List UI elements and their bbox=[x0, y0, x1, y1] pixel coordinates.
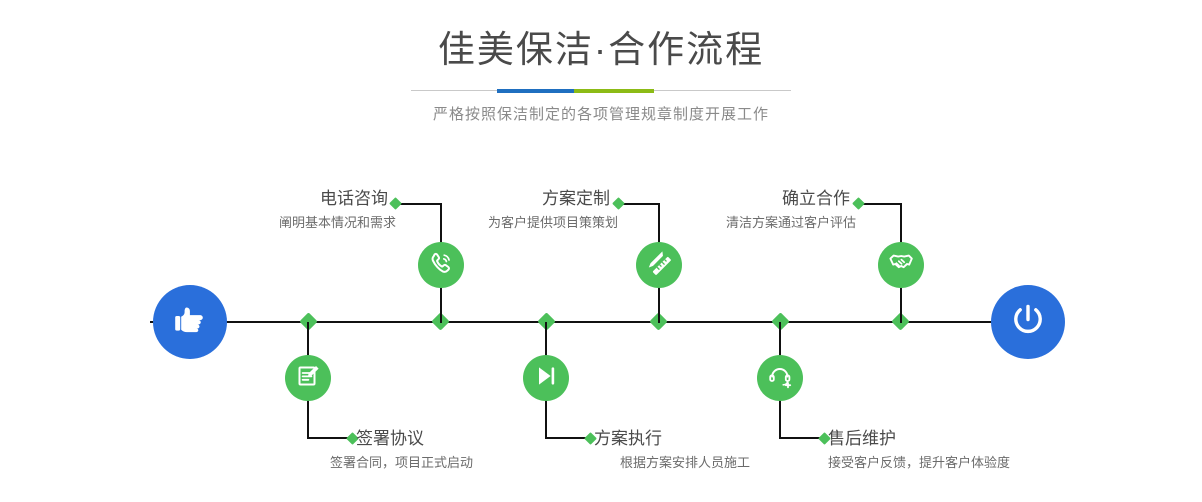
step-icon-circle-2 bbox=[285, 355, 331, 401]
label-marker-step-5 bbox=[852, 197, 865, 210]
timeline-start-node bbox=[153, 285, 227, 359]
play-skip-icon bbox=[532, 362, 560, 395]
pencil-ruler-icon bbox=[645, 249, 673, 282]
cooperation-flow-infographic: 佳美保洁·合作流程 严格按照保洁制定的各项管理规章制度开展工作 bbox=[0, 0, 1202, 502]
step-desc-6: 接受客户反馈，提升客户体验度 bbox=[828, 454, 1010, 472]
step-title-5: 确立合作 bbox=[604, 188, 850, 210]
step-desc-5: 清洁方案通过客户评估 bbox=[584, 214, 856, 232]
step-icon-circle-4 bbox=[523, 355, 569, 401]
step-desc-4: 根据方案安排人员施工 bbox=[620, 454, 750, 472]
step-desc-2: 签署合同，项目正式启动 bbox=[330, 454, 473, 472]
phone-call-icon bbox=[427, 249, 455, 282]
step-title-1: 电话咨询 bbox=[140, 188, 388, 210]
timeline-end-node bbox=[991, 285, 1065, 359]
step-desc-3: 为客户提供项目策策划 bbox=[340, 214, 618, 232]
step-icon-circle-6 bbox=[757, 355, 803, 401]
step-icon-circle-3 bbox=[636, 242, 682, 288]
customer-service-add-icon bbox=[766, 362, 794, 395]
timeline: 电话咨询 阐明基本情况和需求 签署协议 签署合同，项目正式启动 bbox=[0, 0, 1202, 502]
step-icon-circle-5 bbox=[878, 242, 924, 288]
step-title-6: 售后维护 bbox=[828, 428, 896, 450]
step-title-3: 方案定制 bbox=[360, 188, 610, 210]
hand-pointing-right-icon bbox=[170, 300, 210, 345]
step-title-2: 签署协议 bbox=[356, 428, 424, 450]
power-button-icon bbox=[1007, 299, 1049, 346]
document-sign-icon bbox=[294, 362, 322, 395]
timeline-axis bbox=[150, 321, 1052, 323]
step-icon-circle-1 bbox=[418, 242, 464, 288]
handshake-icon bbox=[887, 249, 915, 282]
step-title-4: 方案执行 bbox=[594, 428, 662, 450]
